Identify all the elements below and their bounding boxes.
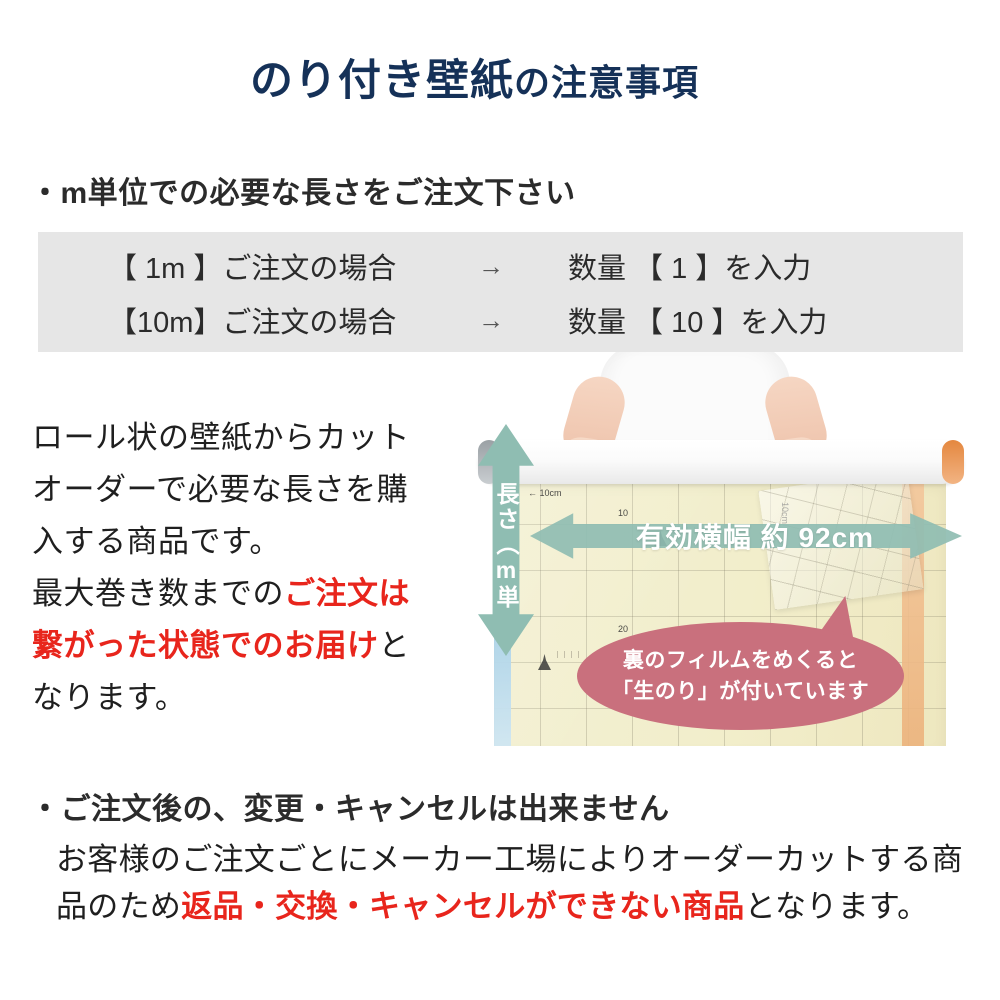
callout-line-2: 「生のり」が付いています bbox=[612, 676, 869, 707]
roll-cap-right bbox=[942, 440, 964, 484]
width-arrow-label: 有効横幅 約 92cm bbox=[530, 506, 962, 566]
order-example-row: 【10m】ご注文の場合 → 数量 【 10 】を入力 bbox=[38, 294, 963, 346]
order-amount-label: 【 1m 】ご注文の場合 bbox=[108, 245, 438, 287]
page-title-suffix: の注意事項 bbox=[514, 62, 699, 103]
desc-line-6: なります。 bbox=[32, 680, 186, 715]
order-quantity-label: 数量 【 1 】を入力 bbox=[568, 245, 811, 287]
desc-line-5-plain: と bbox=[379, 628, 411, 663]
callout-line-1: 裏のフィルムをめくると bbox=[623, 645, 858, 676]
order-quantity-label: 数量 【 10 】を入力 bbox=[568, 299, 827, 341]
bullet-heading-order-unit: ・m単位での必要な長さをご注文下さい bbox=[30, 168, 576, 212]
arrow-right-icon: → bbox=[478, 305, 504, 336]
page-title: のり付き壁紙の注意事項 bbox=[250, 46, 699, 108]
callout-text: 裏のフィルムをめくると 「生のり」が付いています bbox=[577, 622, 904, 730]
length-arrow-label: 長さ（m単位） bbox=[480, 476, 532, 616]
page-title-main: のり付き壁紙 bbox=[250, 57, 514, 105]
desc-line-1: ロール状の壁紙からカット bbox=[32, 420, 410, 455]
order-amount-label: 【10m】ご注文の場合 bbox=[108, 299, 438, 341]
description-paragraph: ロール状の壁紙からカット オーダーで必要な長さを購 入する商品です。 最大巻き数… bbox=[32, 412, 462, 724]
order-example-box: 【 1m 】ご注文の場合 → 数量 【 1 】を入力 【10m】ご注文の場合 →… bbox=[38, 232, 963, 352]
cancellation-paragraph: お客様のご注文ごとにメーカー工場によりオーダーカットする商品のため返品・交換・キ… bbox=[56, 836, 976, 930]
order-example-row: 【 1m 】ご注文の場合 → 数量 【 1 】を入力 bbox=[38, 240, 963, 292]
desc-line-4-emphasis: ご注文は bbox=[284, 576, 410, 611]
desc-line-2: オーダーで必要な長さを購 bbox=[32, 472, 408, 507]
cancel-text-emphasis: 返品・交換・キャンセルができない商品 bbox=[181, 889, 744, 924]
wallpaper-roll bbox=[478, 440, 964, 484]
desc-line-5-emphasis: 繋がった状態でのお届け bbox=[32, 628, 379, 663]
arrow-right-icon: → bbox=[478, 251, 504, 282]
cancel-text-part-3: となります。 bbox=[745, 889, 929, 924]
bullet-heading-no-cancel: ・ご注文後の、変更・キャンセルは出来ません bbox=[30, 784, 670, 828]
wallpaper-notice-page: のり付き壁紙の注意事項 ・m単位での必要な長さをご注文下さい 【 1m 】ご注文… bbox=[0, 0, 1000, 1000]
desc-line-4-plain: 最大巻き数までの bbox=[32, 576, 284, 611]
desc-line-3: 入する商品です。 bbox=[32, 524, 281, 559]
cancel-text-part-1: お客様のご注文ごとにメーカー工場によりオーダーカットす bbox=[56, 842, 900, 877]
ruler-tick-10cm: ← 10cm bbox=[528, 488, 562, 498]
